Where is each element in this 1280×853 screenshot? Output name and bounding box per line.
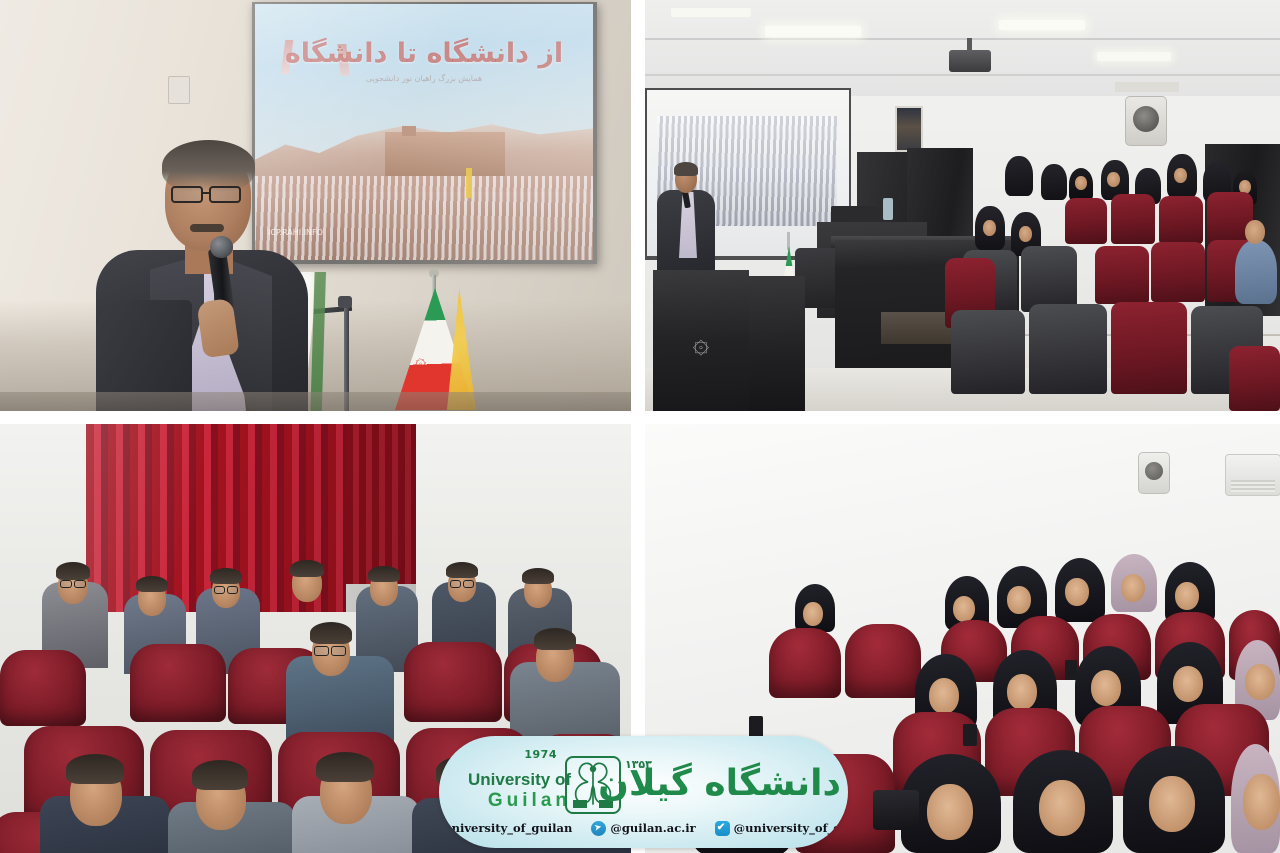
attendee-hair [316, 752, 374, 782]
auditorium-seat [1111, 194, 1155, 244]
speaker-glasses-left-lens [171, 186, 203, 203]
instagram-handle: @university_of_guilan [439, 821, 572, 835]
brand-identity-row: 1974 University of Guilan ۱۳۵۳ [439, 746, 848, 808]
attendee-face [953, 596, 975, 622]
attendee-face [1007, 674, 1037, 710]
podium-side [749, 276, 805, 411]
speaker-hair [674, 162, 698, 176]
social-instagram[interactable]: @university_of_guilan [439, 821, 572, 836]
flag-pole [787, 232, 790, 250]
attendee-hair [290, 560, 324, 577]
projector-glare [252, 2, 597, 264]
attendee-face [1039, 780, 1085, 836]
attendee-face [1091, 670, 1121, 706]
attendee-hair [522, 568, 554, 584]
audience-block [945, 150, 1280, 411]
attendee-hair [446, 562, 478, 578]
ceiling-grid-line [645, 74, 1280, 76]
attendee [1235, 240, 1277, 304]
auditorium-seat [845, 624, 921, 698]
ceiling-light [671, 8, 751, 17]
wall-baseboard [0, 392, 631, 411]
attendee-face [1173, 666, 1203, 702]
attendee-glasses [331, 646, 346, 656]
attendee-face [929, 678, 959, 714]
brand-name-line1: University of [453, 770, 571, 790]
attendee-face [1174, 168, 1187, 183]
loudspeaker-cone [1145, 462, 1163, 480]
auditorium-seat [1021, 246, 1077, 312]
light-switch [168, 76, 190, 104]
microphone-stand-knob [338, 296, 352, 308]
auditorium-seat [0, 650, 86, 726]
wall-portrait [895, 106, 923, 152]
attendee-face [927, 784, 973, 840]
social-telegram[interactable]: @guilan.ac.ir [591, 821, 695, 836]
auditorium-seat [130, 644, 226, 722]
twitter-handle: @university_of_guilan [734, 821, 848, 835]
water-bottle [883, 198, 893, 220]
attendee-hair [136, 576, 168, 592]
telegram-handle: @guilan.ac.ir [610, 821, 695, 835]
attendee-face [1243, 774, 1280, 830]
social-twitter[interactable]: @university_of_guilan [715, 821, 848, 836]
attendee-face [1245, 664, 1275, 700]
attendee-glasses [314, 646, 329, 656]
attendee-glasses [60, 580, 72, 588]
attendee-hair [192, 760, 248, 790]
auditorium-seat [1095, 246, 1149, 304]
mobile-phone [963, 724, 977, 746]
mobile-phone [749, 716, 763, 738]
attendee-face [983, 220, 996, 236]
attendee-glasses [74, 580, 86, 588]
air-conditioner [1115, 82, 1179, 92]
attendee-glasses [214, 586, 225, 594]
attendee-hair [368, 566, 400, 582]
attendee-hair [66, 754, 124, 784]
air-conditioner-vents [1231, 480, 1275, 492]
auditorium-seat [1159, 196, 1203, 244]
twitter-verified-icon [715, 821, 730, 836]
attendee-glasses [227, 586, 238, 594]
brand-persian-name: دانشگاه گیلان [623, 754, 841, 816]
auditorium-seat [951, 310, 1025, 394]
auditorium-seat [1111, 302, 1187, 394]
auditorium-seat [769, 628, 841, 698]
university-brand-banner: 1974 University of Guilan ۱۳۵۳ [439, 736, 848, 848]
attendee [1005, 156, 1033, 196]
speaker-glasses-right-lens [209, 186, 241, 203]
attendee-face [1107, 172, 1120, 187]
brand-english-name: University of Guilan [453, 756, 565, 814]
photo-collage: از دانشگاه تا دانشگاه همایش بزرگ راهیان … [0, 0, 1280, 853]
auditorium-seat [404, 642, 502, 722]
attendee-glasses [463, 580, 474, 588]
attendee-face [1121, 574, 1145, 602]
attendee-face [1245, 220, 1265, 244]
brand-name-line2: Guilan [453, 790, 571, 812]
attendee-face [1075, 176, 1087, 190]
auditorium-seat [1065, 198, 1107, 244]
attendee-hair [56, 562, 90, 580]
attendee-face [1175, 582, 1199, 610]
auditorium-seat [1229, 346, 1280, 411]
attendee-hair [534, 628, 576, 650]
auditorium-seat [1151, 242, 1205, 302]
ceiling-light [999, 20, 1085, 30]
attendee-glasses [450, 580, 461, 588]
attendee-face [1065, 578, 1089, 606]
ceiling-grid-line [645, 38, 1280, 40]
speaker-hair [162, 140, 255, 192]
attendee-face [1007, 586, 1031, 614]
mobile-phone [1065, 660, 1077, 680]
podium-university-emblem: ۞ [681, 320, 721, 366]
speaker-glasses-bridge [202, 192, 210, 194]
speaker-moustache [190, 224, 224, 232]
attendee-face [1149, 776, 1195, 832]
ceiling-light [1097, 52, 1171, 61]
ceiling-projector [949, 50, 991, 72]
attendee-face [803, 602, 823, 626]
handbag [873, 790, 919, 830]
attendee-face [1019, 226, 1032, 242]
telegram-icon [591, 821, 606, 836]
loudspeaker-cone [1133, 106, 1159, 132]
attendee-hair [310, 622, 352, 644]
attendee-hair [210, 568, 242, 584]
photo-panel-top-right: ۞ [645, 0, 1280, 411]
ceiling-light [765, 26, 861, 37]
attendee [1041, 164, 1067, 200]
social-handles-row: @university_of_guilan @guilan.ac.ir @uni… [439, 816, 848, 840]
auditorium-seat [1029, 304, 1107, 394]
photo-panel-top-left: از دانشگاه تا دانشگاه همایش بزرگ راهیان … [0, 0, 631, 411]
